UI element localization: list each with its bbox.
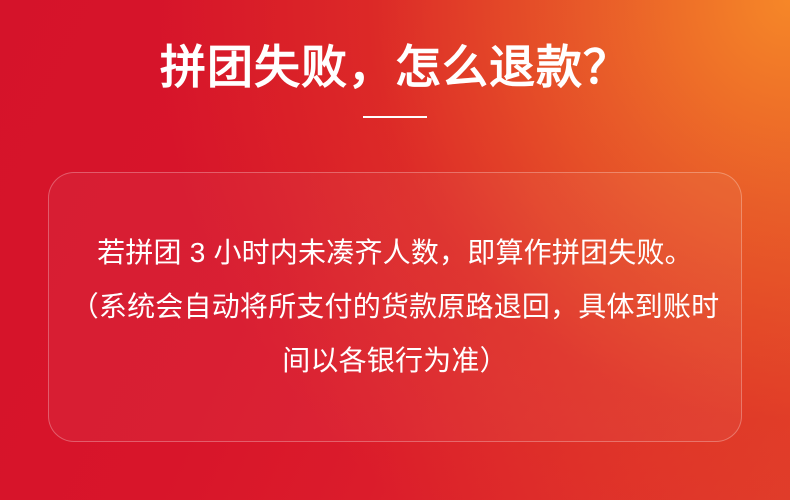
info-line-3: 间以各银行为准） (55, 334, 735, 388)
info-line-1: 若拼团 3 小时内未凑齐人数，即算作拼团失败。 (55, 226, 735, 280)
title-block: 拼团失败，怎么退款？ (0, 36, 790, 118)
refund-info-card: 若拼团 3 小时内未凑齐人数，即算作拼团失败。 （系统会自动将所支付的货款原路退… (48, 172, 742, 442)
card-body: 若拼团 3 小时内未凑齐人数，即算作拼团失败。 （系统会自动将所支付的货款原路退… (49, 226, 741, 388)
promo-poster: 拼团失败，怎么退款？ 若拼团 3 小时内未凑齐人数，即算作拼团失败。 （系统会自… (0, 0, 790, 500)
page-title: 拼团失败，怎么退款？ (0, 36, 790, 98)
info-line-2: （系统会自动将所支付的货款原路退回，具体到账时 (55, 280, 735, 334)
title-divider (363, 116, 427, 118)
